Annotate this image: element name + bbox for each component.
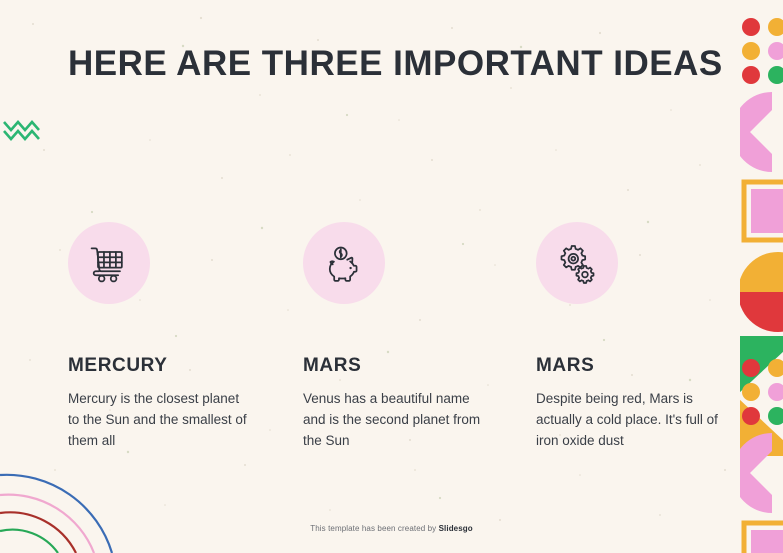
idea-heading: MARS bbox=[536, 355, 594, 377]
idea-body: Venus has a beautiful name and is the se… bbox=[303, 389, 483, 452]
gears-icon bbox=[536, 222, 618, 304]
piggy-bank-icon bbox=[303, 222, 385, 304]
idea-body: Mercury is the closest planet to the Sun… bbox=[68, 389, 248, 452]
footer-brand: Slidesgo bbox=[439, 524, 473, 533]
idea-heading: MARS bbox=[303, 355, 361, 377]
idea-body: Despite being red, Mars is actually a co… bbox=[536, 389, 726, 452]
footer-text: This template has been created by bbox=[310, 524, 438, 533]
idea-heading: MERCURY bbox=[68, 355, 168, 377]
page-title: HERE ARE THREE IMPORTANT IDEAS bbox=[68, 45, 708, 84]
shopping-cart-icon bbox=[68, 222, 150, 304]
footer-credit: This template has been created by Slides… bbox=[0, 524, 783, 533]
ideas-columns: MERCURY Mercury is the closest planet to… bbox=[0, 222, 783, 502]
